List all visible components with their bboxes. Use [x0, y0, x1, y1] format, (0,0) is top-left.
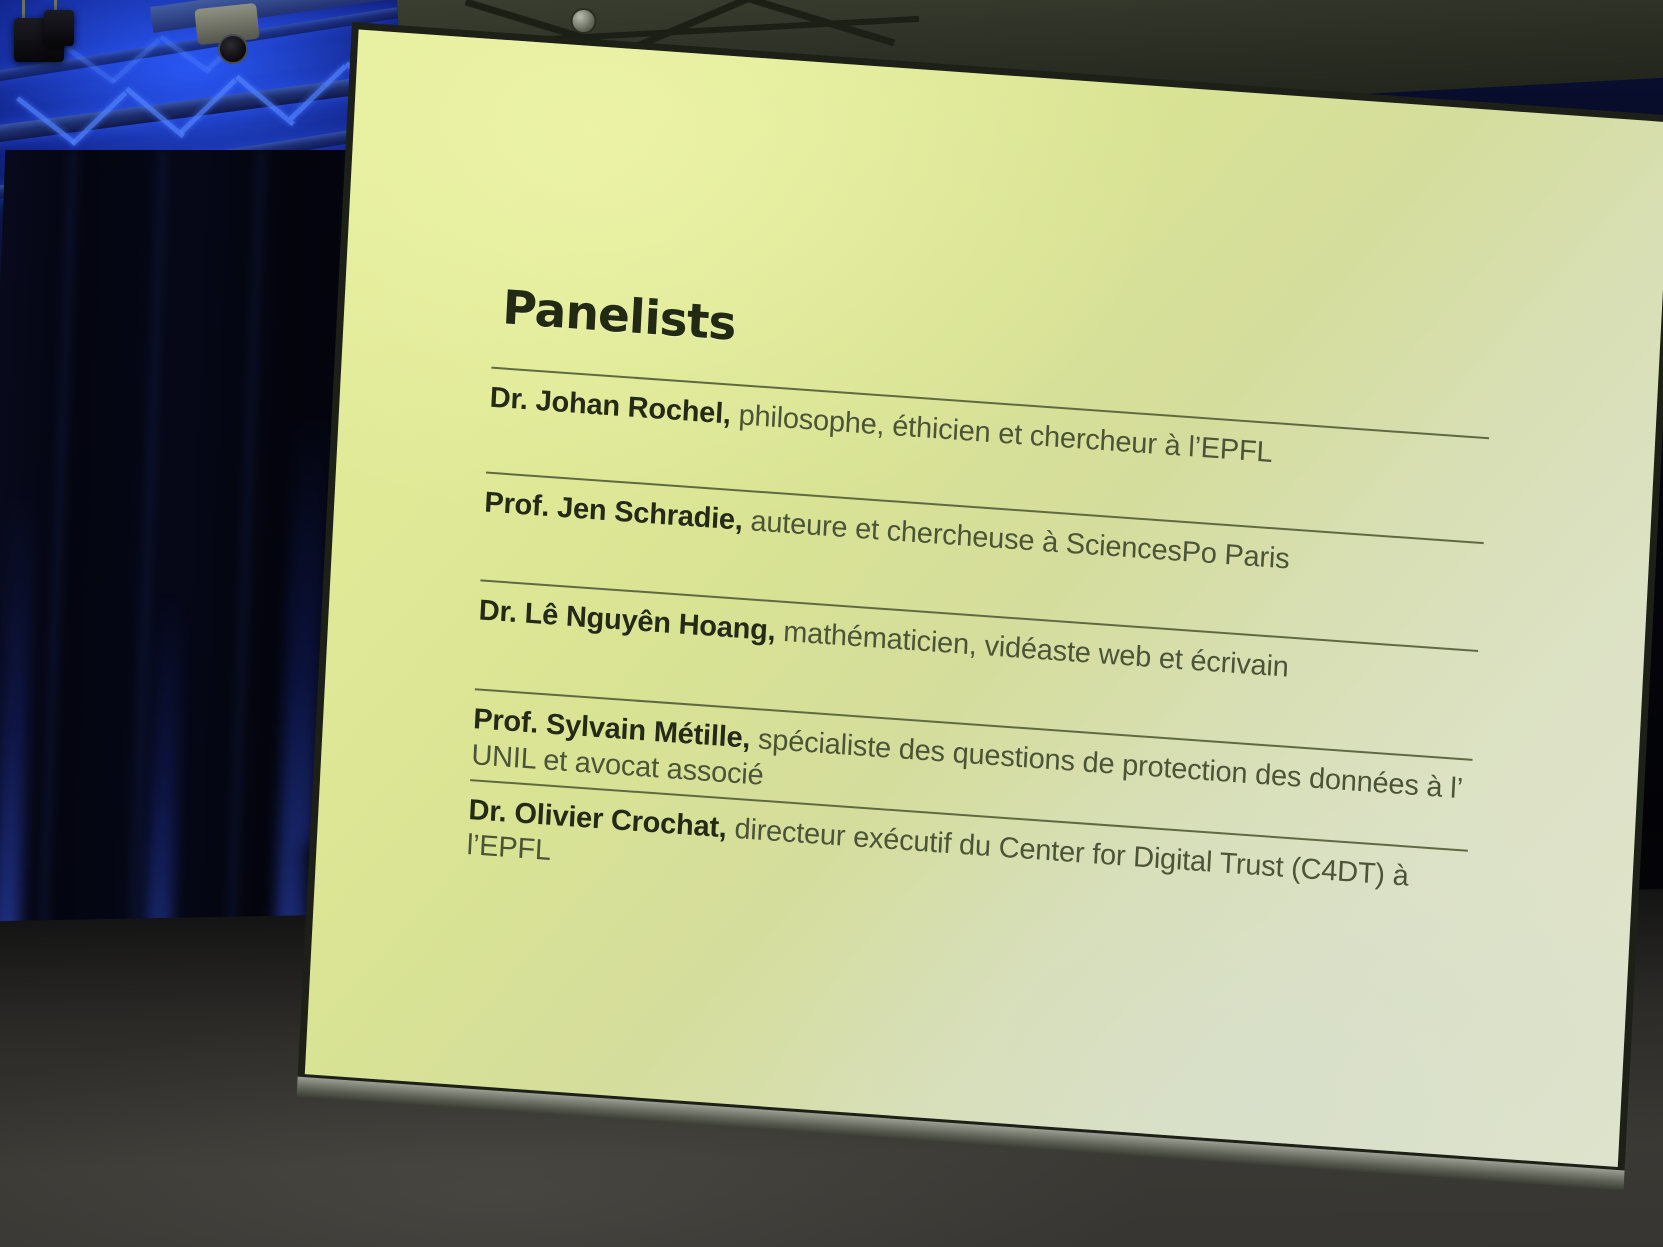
spotlight-yoke: [22, 0, 25, 20]
screen-surface: Panelists Dr. Johan Rochel, philosophe, …: [305, 29, 1663, 1167]
curtain-fold: [223, 150, 270, 950]
stage-photo: Panelists Dr. Johan Rochel, philosophe, …: [0, 0, 1663, 1247]
housing-roller-knob: [570, 7, 597, 34]
slide-content: Panelists Dr. Johan Rochel, philosophe, …: [466, 280, 1494, 938]
panelists-list: Dr. Johan Rochel, philosophe, éthicien e…: [466, 367, 1490, 939]
spotlight-lens: [218, 34, 248, 64]
par-can-light: [44, 10, 74, 46]
curtain-fold: [35, 150, 82, 950]
projection-screen: Panelists Dr. Johan Rochel, philosophe, …: [297, 22, 1663, 1175]
